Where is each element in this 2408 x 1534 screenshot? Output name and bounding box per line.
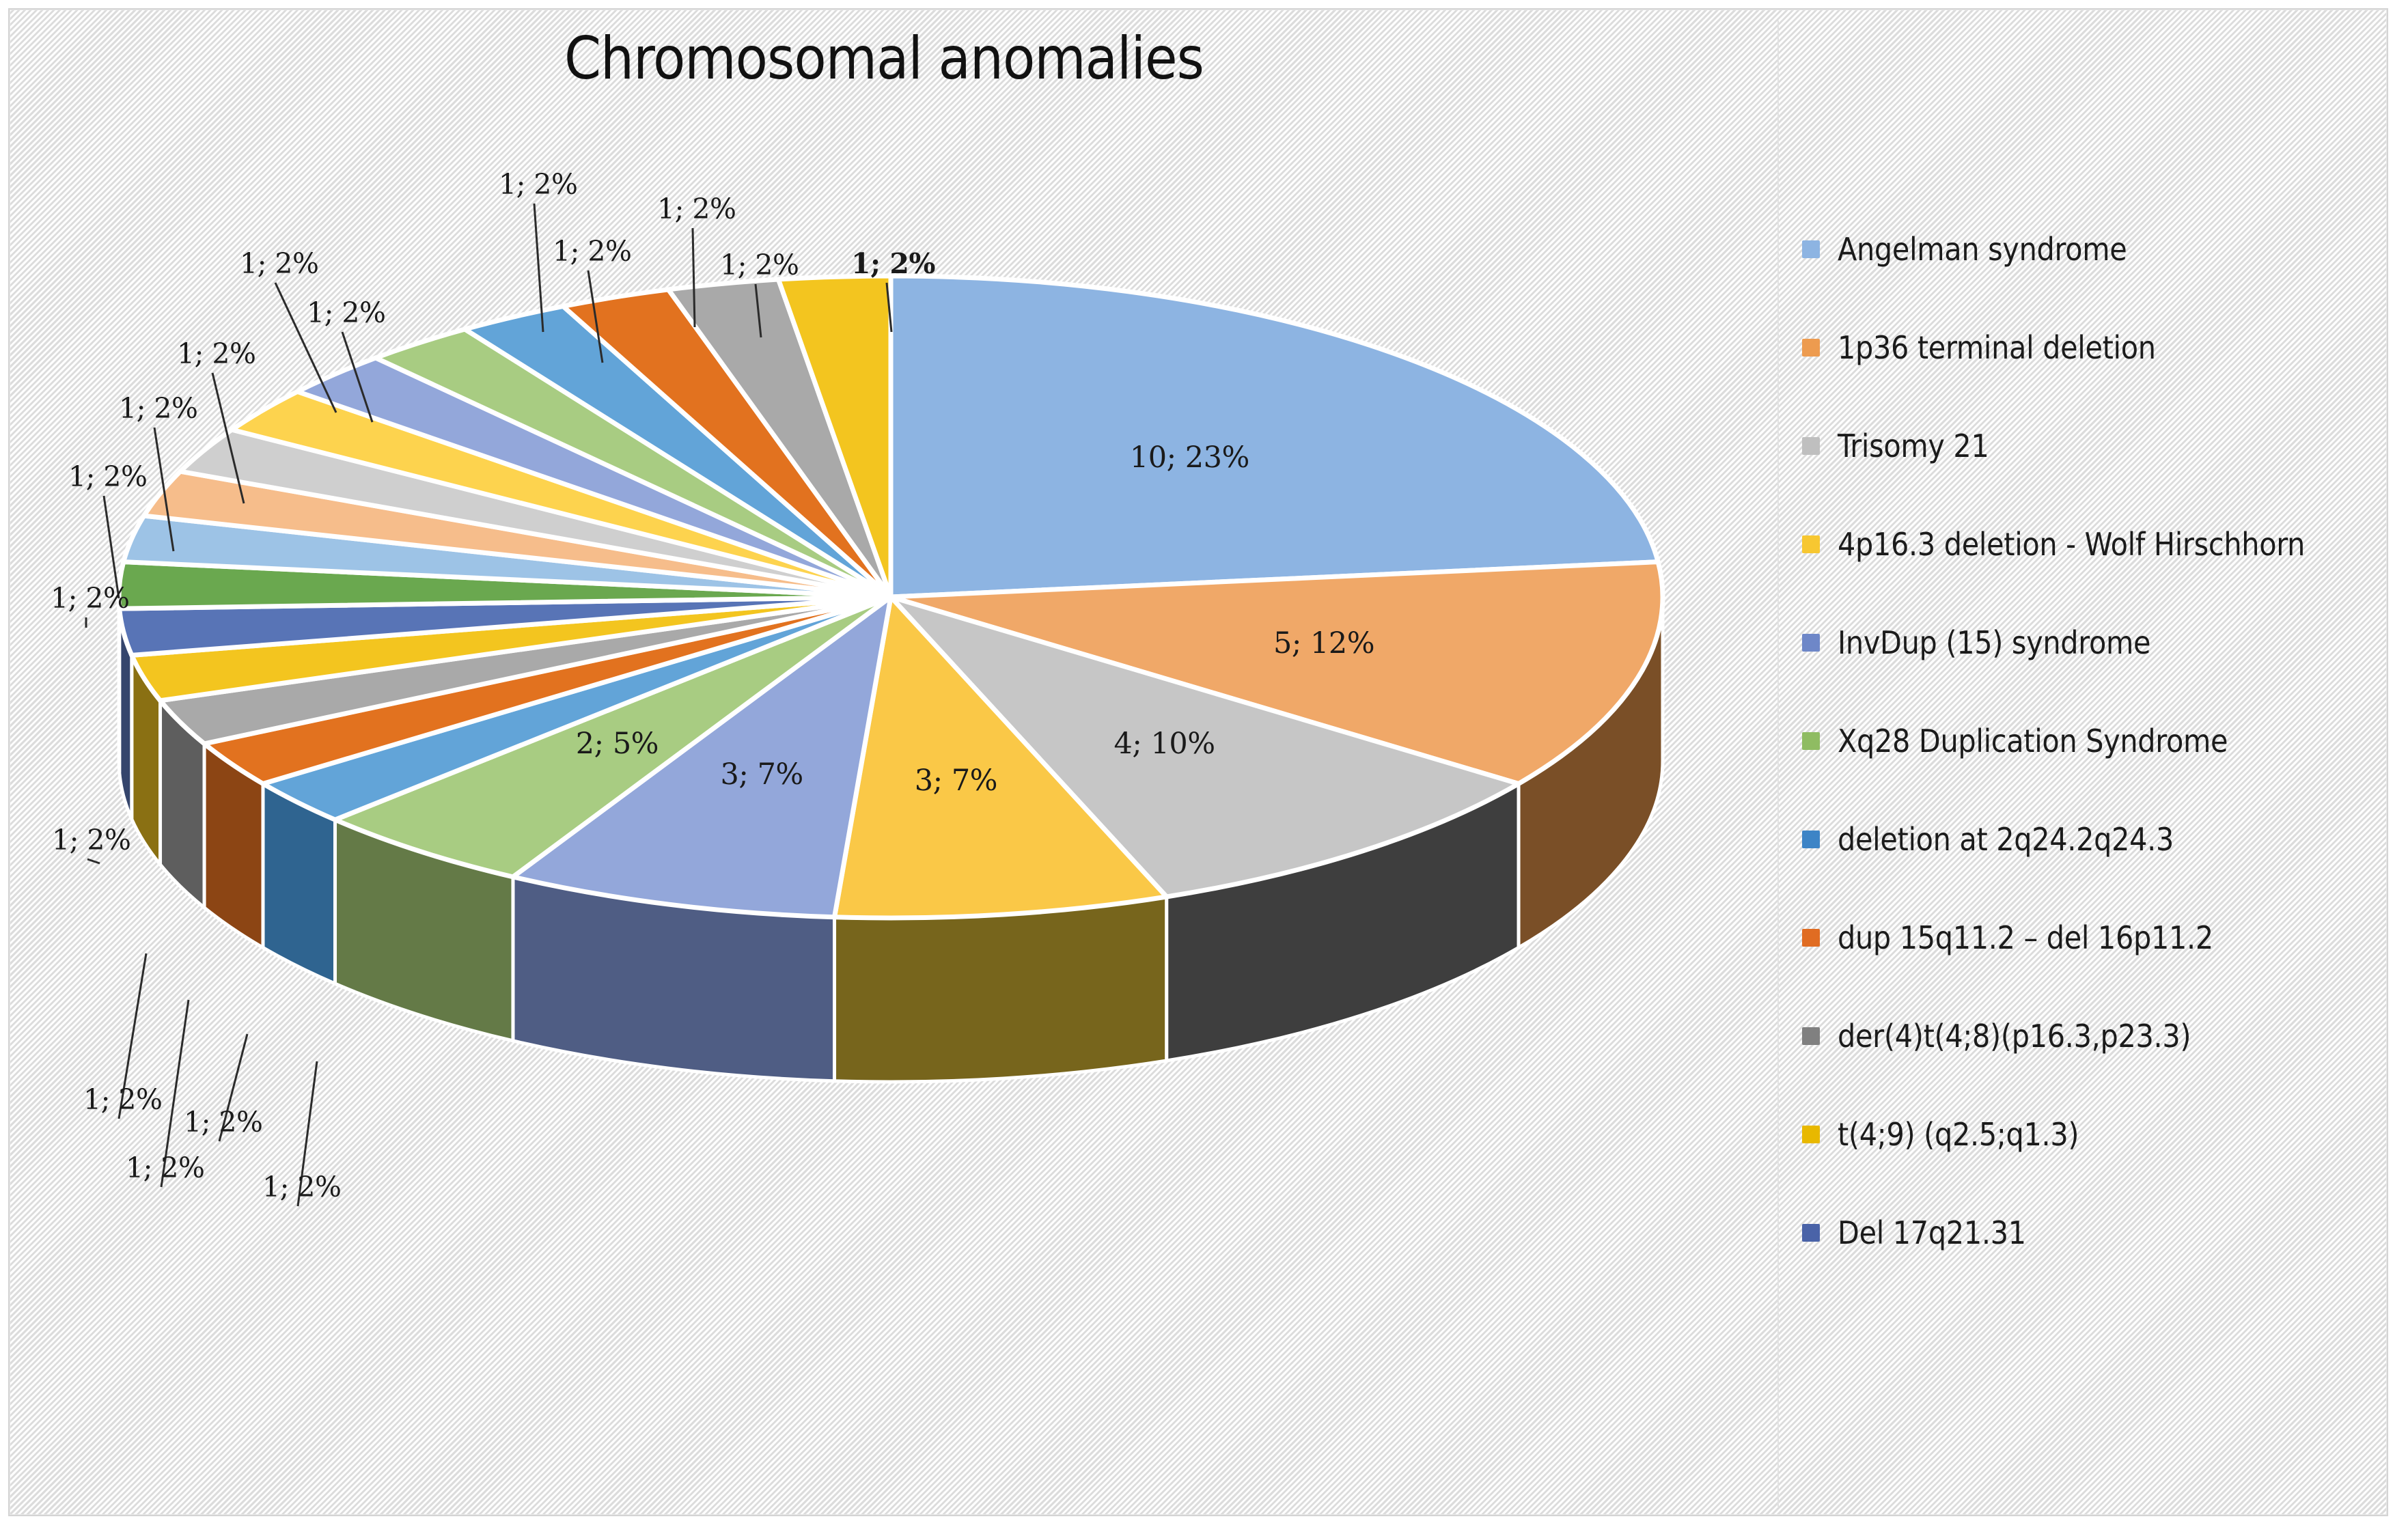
legend-swatch-icon: [1802, 732, 1820, 750]
slice-callout-label: 1; 2%: [177, 337, 255, 370]
pie-chart: [10, 10, 1758, 1518]
legend-item[interactable]: 1p36 terminal deletion: [1802, 332, 2156, 363]
legend-item-label: InvDup (15) syndrome: [1838, 624, 2150, 661]
legend-swatch-icon: [1802, 1224, 1820, 1242]
legend-item[interactable]: 4p16.3 deletion - Wolf Hirschhorn: [1802, 529, 2305, 560]
pie-slices: [119, 276, 1663, 918]
slice-callout-label: 1; 2%: [83, 1083, 162, 1116]
legend-item-label: Trisomy 21: [1838, 428, 1989, 464]
slice-value-label: 5; 12%: [1273, 626, 1374, 660]
slice-callout-label: 1; 2%: [851, 247, 935, 280]
legend-swatch-icon: [1802, 929, 1820, 947]
legend: Angelman syndrome1p36 terminal deletionT…: [1777, 20, 2388, 1507]
leader-line: [87, 859, 100, 863]
legend-item[interactable]: t(4;9) (q2.5;q1.3): [1802, 1119, 2079, 1150]
legend-swatch-icon: [1802, 437, 1820, 455]
legend-item-label: 4p16.3 deletion - Wolf Hirschhorn: [1838, 526, 2305, 563]
legend-swatch-icon: [1802, 831, 1820, 848]
slice-callout-label: 1; 2%: [553, 235, 631, 268]
slice-callout-label: 1; 2%: [720, 249, 799, 281]
slice-callout-label: 1; 2%: [68, 460, 147, 493]
legend-item[interactable]: deletion at 2q24.2q24.3: [1802, 824, 2174, 855]
legend-item-label: dup 15q11.2 – del 16p11.2: [1838, 919, 2213, 956]
pie-svg: [10, 10, 1758, 1518]
legend-swatch-icon: [1802, 634, 1820, 652]
legend-item[interactable]: Trisomy 21: [1802, 430, 1989, 462]
chart-root: Chromosomal anomalies 10; 23%5; 12%4; 10…: [0, 0, 2408, 1534]
slice-callout-label: 1; 2%: [262, 1171, 341, 1203]
legend-item[interactable]: Del 17q21.31: [1802, 1217, 2026, 1249]
chart-plot-area: Chromosomal anomalies 10; 23%5; 12%4; 10…: [8, 8, 2388, 1516]
slice-value-label: 3; 7%: [915, 764, 997, 798]
slice-callout-label: 1; 2%: [499, 168, 577, 201]
slice-callout-label: 1; 2%: [657, 193, 736, 225]
slice-callout-label: 1; 2%: [51, 582, 129, 615]
slice-callout-label: 1; 2%: [119, 392, 197, 425]
legend-swatch-icon: [1802, 1027, 1820, 1045]
legend-item[interactable]: Angelman syndrome: [1802, 234, 2127, 265]
slice-value-label: 3; 7%: [721, 757, 803, 792]
slice-callout-label: 1; 2%: [240, 247, 318, 280]
slice-callout-label: 1; 2%: [52, 824, 130, 856]
legend-swatch-icon: [1802, 535, 1820, 553]
legend-item[interactable]: InvDup (15) syndrome: [1802, 627, 2150, 658]
slice-value-label: 10; 23%: [1130, 441, 1249, 475]
legend-item-label: Angelman syndrome: [1838, 231, 2127, 268]
legend-item[interactable]: der(4)t(4;8)(p16.3,p23.3): [1802, 1020, 2191, 1052]
pie-slice-side: [835, 897, 1167, 1082]
legend-swatch-icon: [1802, 240, 1820, 258]
legend-swatch-icon: [1802, 1126, 1820, 1143]
legend-swatch-icon: [1802, 339, 1820, 357]
legend-item-label: 1p36 terminal deletion: [1838, 329, 2156, 366]
slice-value-label: 2; 5%: [576, 727, 659, 761]
legend-item-label: Xq28 Duplication Syndrome: [1838, 723, 2228, 759]
legend-item-label: Del 17q21.31: [1838, 1214, 2026, 1251]
slice-callout-label: 1; 2%: [126, 1152, 204, 1184]
legend-item-label: deletion at 2q24.2q24.3: [1838, 821, 2174, 858]
slice-callout-label: 1; 2%: [307, 296, 385, 329]
legend-item[interactable]: Xq28 Duplication Syndrome: [1802, 725, 2228, 757]
legend-item-label: der(4)t(4;8)(p16.3,p23.3): [1838, 1018, 2191, 1055]
legend-item-label: t(4;9) (q2.5;q1.3): [1838, 1116, 2079, 1153]
pie-slice[interactable]: [891, 276, 1658, 597]
slice-callout-label: 1; 2%: [184, 1106, 262, 1139]
legend-item[interactable]: dup 15q11.2 – del 16p11.2: [1802, 922, 2213, 953]
slice-value-label: 4; 10%: [1114, 727, 1215, 761]
